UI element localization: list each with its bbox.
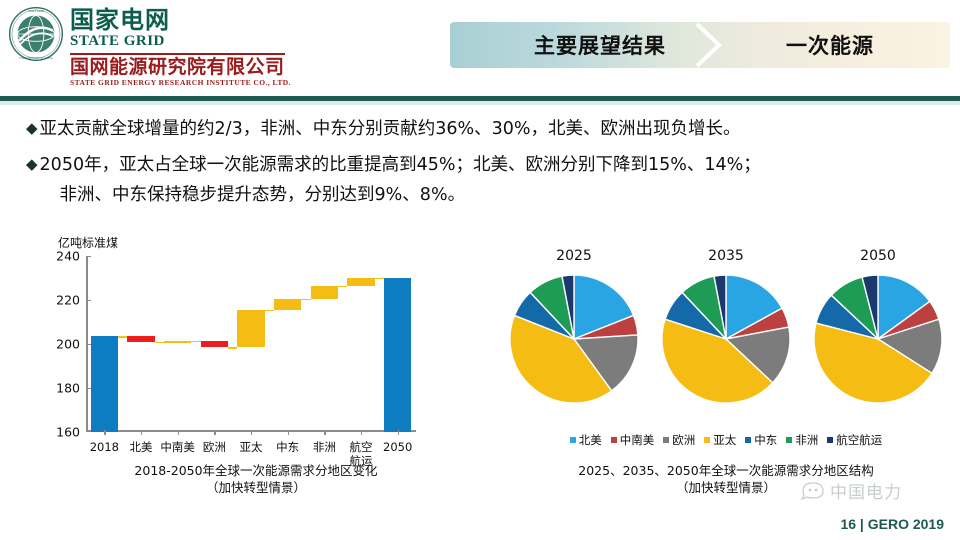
waterfall-y-tick-label: 180 xyxy=(56,381,80,396)
waterfall-connector xyxy=(155,342,165,343)
pie-title: 2050 xyxy=(823,248,933,264)
bullet-diamond-icon: ◆ xyxy=(26,150,38,180)
bullet-diamond-icon: ◆ xyxy=(26,114,38,144)
waterfall-connector xyxy=(265,310,275,311)
waterfall-chart-panel: 亿吨标准煤 160180200220240 2018-2050年全球一次能源需求… xyxy=(26,234,486,504)
waterfall-caption-title: 2018-2050年全球一次能源需求分地区变化 xyxy=(26,462,486,479)
legend-label: 亚太 xyxy=(713,432,736,448)
waterfall-x-tick-mark xyxy=(288,430,289,435)
bullet-item: ◆ 亚太贡献全球增量的约2/3，非洲、中东分别贡献约36%、30%，北美、欧洲出… xyxy=(26,114,942,144)
legend-item: 亚太 xyxy=(704,432,736,448)
pie-title: 2035 xyxy=(671,248,781,264)
waterfall-x-label: 航空航运 xyxy=(350,440,373,468)
bullet-list: ◆ 亚太贡献全球增量的约2/3，非洲、中东分别贡献约36%、30%，北美、欧洲出… xyxy=(26,114,942,216)
legend-label: 北美 xyxy=(579,432,602,448)
waterfall-x-tick-mark xyxy=(251,430,252,435)
waterfall-x-tick-mark xyxy=(324,430,325,435)
bullet-text-block: 2050年，亚太占全球一次能源需求的比重提高到45%；北美、欧洲分别下降到15%… xyxy=(40,150,761,210)
pie-chart-panel: 202520352050 北美中南美欧洲亚太中东非洲航空航运 2025、2035… xyxy=(496,234,956,504)
watermark-text: 中国电力 xyxy=(830,478,902,503)
waterfall-caption-subtitle: （加快转型情景） xyxy=(26,479,486,496)
waterfall-y-tick-label: 240 xyxy=(56,249,80,264)
slide-header: STATE GRID CORPORATION OF CHINA 国家电网 STA… xyxy=(0,0,960,96)
logo-en-institute: STATE GRID ENERGY RESEARCH INSTITUTE CO.… xyxy=(70,78,291,87)
legend-item: 中南美 xyxy=(611,432,655,448)
waterfall-connector xyxy=(228,347,238,348)
logo-en-name: STATE GRID xyxy=(70,33,291,50)
waterfall-x-label: 中东 xyxy=(276,440,299,454)
waterfall-connector xyxy=(338,286,348,287)
logo-cn-institute: 国网能源研究院有限公司 xyxy=(70,57,291,78)
waterfall-bar xyxy=(274,299,301,310)
legend-label: 中南美 xyxy=(620,432,655,448)
waterfall-y-tick-label: 220 xyxy=(56,293,80,308)
pie-chart xyxy=(659,272,793,411)
waterfall-bar xyxy=(164,341,191,344)
legend-label: 欧洲 xyxy=(672,432,695,448)
waterfall-x-label: 非洲 xyxy=(313,440,336,454)
bullet-text: 2050年，亚太占全球一次能源需求的比重提高到45%；北美、欧洲分别下降到15%… xyxy=(40,150,761,180)
waterfall-bar xyxy=(91,336,118,432)
slide-root: STATE GRID CORPORATION OF CHINA 国家电网 STA… xyxy=(0,0,960,540)
waterfall-x-label: 中南美 xyxy=(160,440,195,454)
bullet-text: 非洲、中东保持稳步提升态势，分别达到9%、8%。 xyxy=(40,180,761,210)
waterfall-x-label: 2018 xyxy=(90,440,119,454)
waterfall-y-tick-mark xyxy=(86,256,91,257)
waterfall-bar xyxy=(237,310,264,347)
waterfall-connector xyxy=(118,336,128,337)
waterfall-x-label: 亚太 xyxy=(240,440,263,454)
legend-item: 北美 xyxy=(570,432,602,448)
organization-logo: STATE GRID CORPORATION OF CHINA 国家电网 STA… xyxy=(8,6,291,87)
header-rule-light xyxy=(0,101,960,105)
section-banner: 主要展望结果 一次能源 xyxy=(450,22,950,68)
waterfall-y-tick-mark xyxy=(86,300,91,301)
svg-text:CORPORATION OF CHINA: CORPORATION OF CHINA xyxy=(19,57,52,60)
legend-swatch xyxy=(663,437,669,443)
waterfall-x-tick-mark xyxy=(178,430,179,435)
waterfall-x-label: 欧洲 xyxy=(203,440,226,454)
legend-swatch xyxy=(745,437,751,443)
waterfall-x-tick-mark xyxy=(361,430,362,435)
watermark: 中国电力 xyxy=(800,478,902,503)
waterfall-bar xyxy=(127,336,154,342)
banner-subsection-title: 一次能源 xyxy=(725,22,935,68)
legend-swatch xyxy=(570,437,576,443)
legend-swatch xyxy=(611,437,617,443)
pie-chart xyxy=(507,272,641,411)
legend-swatch xyxy=(704,437,710,443)
waterfall-y-tick-label: 200 xyxy=(56,337,80,352)
waterfall-bar xyxy=(201,341,228,348)
waterfall-x-tick-mark xyxy=(104,430,105,435)
waterfall-x-tick-mark xyxy=(398,430,399,435)
legend-label: 航空航运 xyxy=(836,432,882,448)
legend-item: 中东 xyxy=(745,432,777,448)
waterfall-bar xyxy=(311,286,338,299)
legend-item: 非洲 xyxy=(786,432,818,448)
waterfall-connector xyxy=(301,299,311,300)
legend-label: 非洲 xyxy=(795,432,818,448)
bullet-text: 亚太贡献全球增量的约2/3，非洲、中东分别贡献约36%、30%，北美、欧洲出现负… xyxy=(40,114,741,144)
waterfall-x-label: 北美 xyxy=(130,440,153,454)
waterfall-connector xyxy=(191,341,201,342)
waterfall-caption: 2018-2050年全球一次能源需求分地区变化 （加快转型情景） xyxy=(26,462,486,496)
legend-item: 航空航运 xyxy=(827,432,882,448)
waterfall-x-label: 2050 xyxy=(383,440,412,454)
logo-text-block: 国家电网 STATE GRID 国网能源研究院有限公司 STATE GRID E… xyxy=(70,6,291,87)
legend-label: 中东 xyxy=(754,432,777,448)
pie-caption-title: 2025、2035、2050年全球一次能源需求分地区结构 xyxy=(496,462,956,479)
waterfall-bar xyxy=(347,278,374,286)
waterfall-bar xyxy=(384,278,411,432)
waterfall-plot-area: 160180200220240 xyxy=(86,256,416,432)
waterfall-x-tick-mark xyxy=(214,430,215,435)
footer-page-number: 16 | GERO 2019 xyxy=(840,516,944,532)
pie-chart xyxy=(811,272,945,411)
pie-legend: 北美中南美欧洲亚太中东非洲航空航运 xyxy=(496,432,956,448)
bullet-item: ◆ 2050年，亚太占全球一次能源需求的比重提高到45%；北美、欧洲分别下降到1… xyxy=(26,150,942,210)
waterfall-x-tick-mark xyxy=(141,430,142,435)
legend-swatch xyxy=(827,437,833,443)
legend-item: 欧洲 xyxy=(663,432,695,448)
waterfall-connector xyxy=(375,278,385,279)
banner-section-title: 主要展望结果 xyxy=(490,22,710,68)
pie-title: 2025 xyxy=(519,248,629,264)
svg-text:STATE GRID: STATE GRID xyxy=(28,10,44,13)
ghost-avatar-icon xyxy=(800,480,826,502)
waterfall-y-tick-label: 160 xyxy=(56,425,80,440)
logo-cn-name: 国家电网 xyxy=(70,8,291,33)
state-grid-globe-emblem: STATE GRID CORPORATION OF CHINA xyxy=(8,6,64,62)
legend-swatch xyxy=(786,437,792,443)
